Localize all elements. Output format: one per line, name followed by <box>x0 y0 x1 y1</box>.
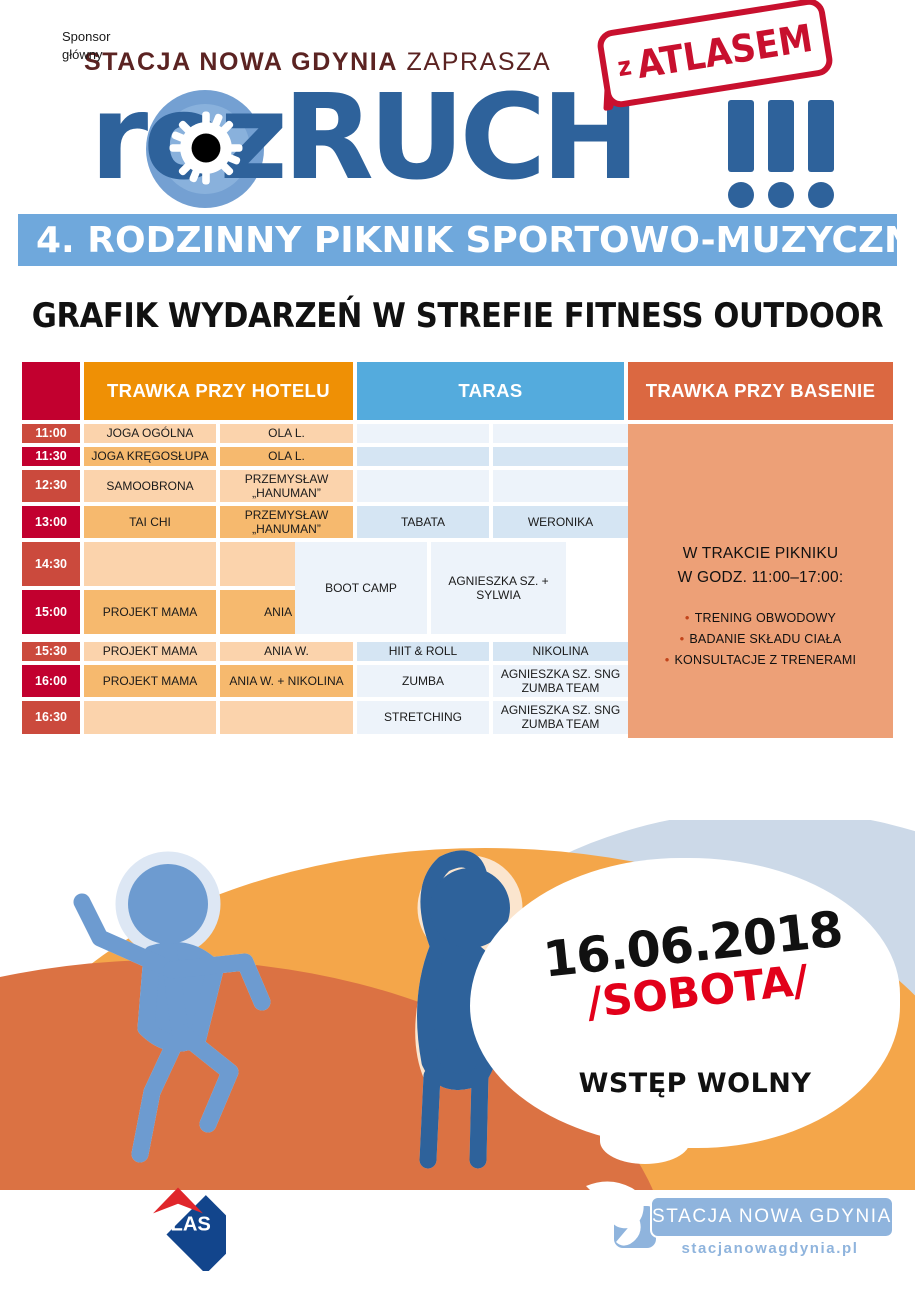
row-time: 15:30 <box>22 642 80 661</box>
cell-hotel-activity: TAI CHI <box>84 506 216 538</box>
rozruch-logo: rozRUCH <box>90 86 830 216</box>
cell-taras-activity: STRETCHING <box>357 701 489 733</box>
cell-taras-trainer: AGNIESZKA SZ. SNG ZUMBA TEAM <box>493 665 628 697</box>
cell-hotel-activity <box>84 701 216 733</box>
event-subtitle: 4. RODZINNY PIKNIK SPORTOWO-MUZYCZNY <box>36 220 915 261</box>
cell-taras-activity <box>357 470 489 502</box>
table-row: 15:30 PROJEKT MAMA ANIA W. HIIT & ROLL N… <box>22 642 624 661</box>
cell-hotel-trainer: OLA L. <box>220 424 353 443</box>
header-cell-time <box>22 362 80 420</box>
header-cell-hotel: TRAWKA PRZY HOTELU <box>84 362 353 420</box>
cell-hotel-activity: PROJEKT MAMA <box>84 642 216 661</box>
table-row: 12:30 SAMOOBRONA PRZEMYSŁAW „HANUMAN” <box>22 470 624 502</box>
sng-name: STACJA NOWA GDYNIA <box>652 1206 892 1228</box>
table-row: 11:00 JOGA OGÓLNA OLA L. <box>22 424 624 443</box>
cell-taras-trainer: WERONIKA <box>493 506 628 538</box>
badge-label: ATLASEM <box>634 16 816 87</box>
pool-zone-panel: W TRAKCIE PIKNIKU W GODZ. 11:00–17:00: T… <box>628 424 893 738</box>
pool-panel-line2: W GODZ. 11:00–17:00: <box>628 566 893 590</box>
pool-panel-line1: W TRAKCIE PIKNIKU <box>628 542 893 566</box>
cell-hotel-trainer: PRZEMYSŁAW „HANUMAN” <box>220 470 353 502</box>
header-cell-taras: TARAS <box>357 362 624 420</box>
row-time: 11:00 <box>22 424 80 443</box>
table-row-group-bootcamp: 14:30 15:00 PROJEKT MAMA ANIA W. BOOT CA… <box>22 542 624 638</box>
atlas-logo-icon: ATLAS <box>130 1175 226 1271</box>
cell-taras-trainer <box>493 447 628 466</box>
cell-taras-trainer: AGNIESZKA SZ. SNG ZUMBA TEAM <box>493 701 628 733</box>
cell-taras-activity: HIIT & ROLL <box>357 642 489 661</box>
row-time: 15:00 <box>22 590 80 634</box>
row-time: 16:30 <box>22 701 80 733</box>
cell-hotel-activity <box>84 542 216 586</box>
pool-panel-list: TRENING OBWODOWY BADANIE SKŁADU CIAŁA KO… <box>628 608 893 670</box>
cell-hotel-activity: PROJEKT MAMA <box>84 665 216 697</box>
table-row: 13:00 TAI CHI PRZEMYSŁAW „HANUMAN” TABAT… <box>22 506 624 538</box>
sponsor-line-1: Sponsor <box>62 28 110 46</box>
cell-hotel-trainer: OLA L. <box>220 447 353 466</box>
cell-taras-trainer <box>493 424 628 443</box>
cell-hotel-activity: JOGA KRĘGOSŁUPA <box>84 447 216 466</box>
sng-logo[interactable]: STACJA NOWA GDYNIA stacjanowagdynia.pl <box>578 1172 898 1282</box>
sng-name-bar: STACJA NOWA GDYNIA <box>650 1196 894 1238</box>
list-item: BADANIE SKŁADU CIAŁA <box>628 629 893 650</box>
cell-hotel-trainer: PRZEMYSŁAW „HANUMAN” <box>220 506 353 538</box>
pool-panel-content: W TRAKCIE PIKNIKU W GODZ. 11:00–17:00: T… <box>628 542 893 670</box>
poster-header: STACJA NOWA GDYNIA ZAPRASZA rozRUCH <box>0 0 915 200</box>
cell-hotel-trainer: ANIA W. + NIKOLINA <box>220 665 353 697</box>
sng-website[interactable]: stacjanowagdynia.pl <box>650 1240 890 1257</box>
row-time: 14:30 <box>22 542 80 586</box>
table-left-grid: 11:00 JOGA OGÓLNA OLA L. 11:30 JOGA KRĘG… <box>22 424 624 738</box>
table-body: 11:00 JOGA OGÓLNA OLA L. 11:30 JOGA KRĘG… <box>22 424 893 738</box>
cell-hotel-activity: PROJEKT MAMA <box>84 590 216 634</box>
cell-taras-activity: BOOT CAMP <box>295 542 427 634</box>
cell-taras-activity <box>357 447 489 466</box>
list-item: KONSULTACJE Z TRENERAMI <box>628 650 893 671</box>
cell-hotel-activity: SAMOOBRONA <box>84 470 216 502</box>
cell-taras-trainer <box>493 470 628 502</box>
schedule-heading: GRAFIK WYDARZEŃ W STREFIE FITNESS OUTDOO… <box>0 296 915 336</box>
free-entry-label: WSTĘP WOLNY <box>520 1068 870 1099</box>
sponsor-label: Sponsor główny <box>62 28 110 63</box>
table-row: 16:30 STRETCHING AGNIESZKA SZ. SNG ZUMBA… <box>22 701 624 733</box>
table-row: 15:00 PROJEKT MAMA ANIA W. <box>22 590 291 634</box>
cell-taras-trainer: AGNIESZKA SZ. + SYLWIA <box>431 542 566 634</box>
table-row: 11:30 JOGA KRĘGOSŁUPA OLA L. <box>22 447 624 466</box>
cell-taras-trainer: NIKOLINA <box>493 642 628 661</box>
cell-hotel-trainer <box>220 701 353 733</box>
cell-taras-activity: ZUMBA <box>357 665 489 697</box>
sponsor-line-2: główny <box>62 46 110 64</box>
row-time: 12:30 <box>22 470 80 502</box>
cell-hotel-trainer: ANIA W. <box>220 642 353 661</box>
runner-figure-icon <box>40 842 340 1172</box>
gear-icon <box>168 110 244 186</box>
table-row: 14:30 <box>22 542 291 586</box>
poster-root: STACJA NOWA GDYNIA ZAPRASZA rozRUCH <box>0 0 915 1300</box>
cell-taras-activity: TABATA <box>357 506 489 538</box>
badge-prefix: z <box>616 51 634 83</box>
row-time: 16:00 <box>22 665 80 697</box>
list-item: TRENING OBWODOWY <box>628 608 893 629</box>
event-subtitle-banner: 4. RODZINNY PIKNIK SPORTOWO-MUZYCZNY <box>18 214 897 266</box>
row-time: 13:00 <box>22 506 80 538</box>
cell-taras-activity <box>357 424 489 443</box>
table-row: 16:00 PROJEKT MAMA ANIA W. + NIKOLINA ZU… <box>22 665 624 697</box>
atlas-logo-text: ATLAS <box>145 1214 211 1236</box>
header-cell-pool: TRAWKA PRZY BASENIE <box>628 362 893 420</box>
table-header-row: TRAWKA PRZY HOTELU TARAS TRAWKA PRZY BAS… <box>22 362 893 420</box>
illustration-area: 16.06.2018 /SOBOTA/ WSTĘP WOLNY <box>0 820 915 1220</box>
schedule-table: TRAWKA PRZY HOTELU TARAS TRAWKA PRZY BAS… <box>22 362 893 738</box>
cell-hotel-activity: JOGA OGÓLNA <box>84 424 216 443</box>
row-time: 11:30 <box>22 447 80 466</box>
